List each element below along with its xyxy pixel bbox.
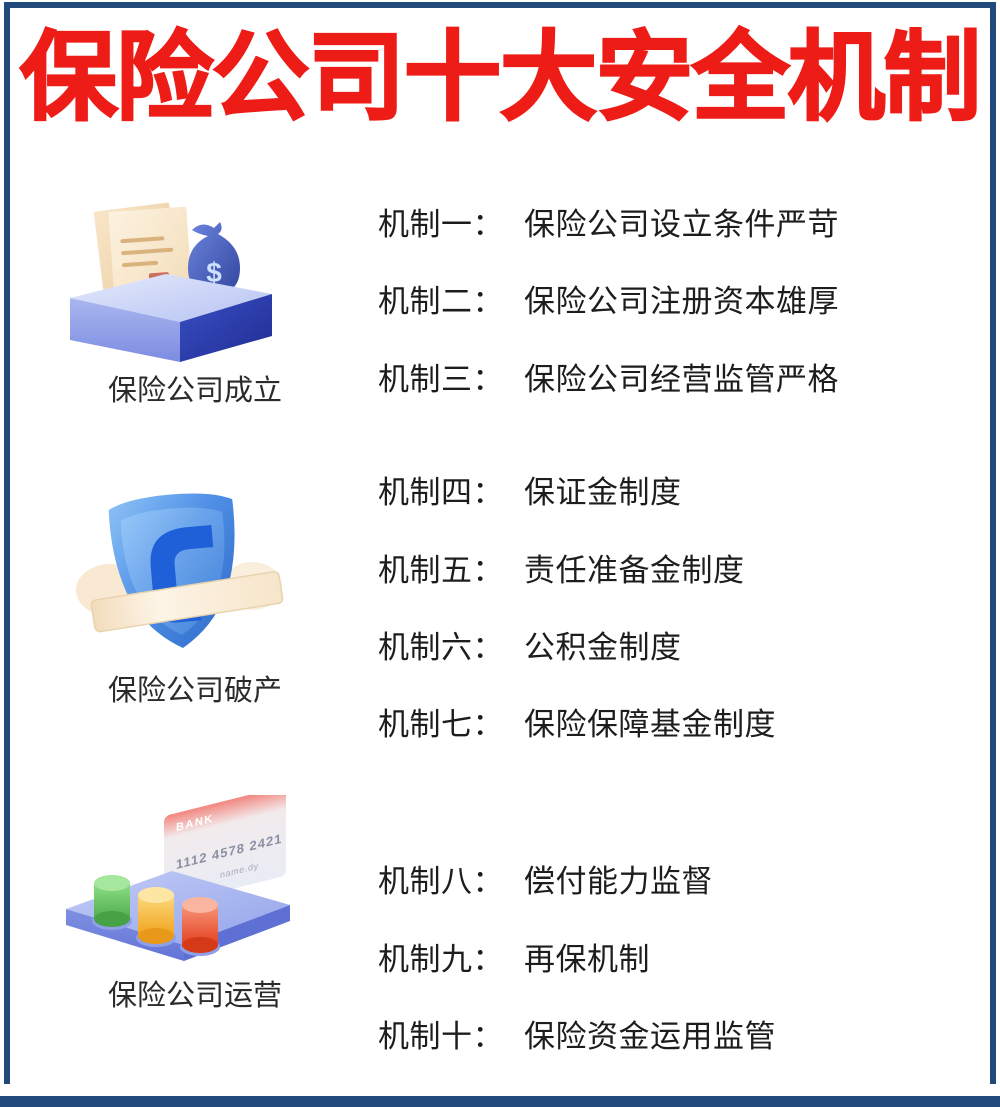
mechanism-label: 机制四： <box>378 468 524 518</box>
section-caption: 保险公司破产 <box>40 671 350 711</box>
section-company-operations: BANK 1112 4578 2421 name.dy <box>40 795 350 1016</box>
mechanism-text: 保险资金运用监管 <box>524 1012 776 1062</box>
mechanism-label: 机制六： <box>378 623 524 673</box>
mechanism-row-6: 机制六： 公积金制度 <box>378 623 682 673</box>
mechanism-text: 责任准备金制度 <box>524 546 745 596</box>
mechanism-row-1: 机制一： 保险公司设立条件严苛 <box>378 200 839 250</box>
mechanism-text: 再保机制 <box>524 935 650 985</box>
mechanism-text: 偿付能力监督 <box>524 857 713 907</box>
mechanism-text: 公积金制度 <box>524 623 682 673</box>
mechanism-label: 机制九： <box>378 935 524 985</box>
mechanism-row-7: 机制七： 保险保障基金制度 <box>378 700 776 750</box>
mechanism-label: 机制三： <box>378 355 524 405</box>
page-title: 保险公司十大安全机制 <box>0 22 1000 134</box>
mechanism-text: 保险公司经营监管严格 <box>524 355 839 405</box>
mechanism-label: 机制一： <box>378 200 524 250</box>
mechanism-text: 保险公司设立条件严苛 <box>524 200 839 250</box>
box-documents-moneybag-icon: $ <box>40 190 350 365</box>
mechanism-label: 机制十： <box>378 1012 524 1062</box>
frame-border-bottom <box>0 1096 1000 1107</box>
mechanism-row-10: 机制十： 保险资金运用监管 <box>378 1012 776 1062</box>
infographic-poster: 保险公司十大安全机制 <box>0 0 1000 1107</box>
frame-border-right <box>990 2 996 1084</box>
shield-bandage-icon <box>40 490 350 665</box>
mechanism-text: 保险公司注册资本雄厚 <box>524 277 839 327</box>
mechanism-label: 机制五： <box>378 546 524 596</box>
mechanism-label: 机制八： <box>378 857 524 907</box>
mechanism-text: 保险保障基金制度 <box>524 700 776 750</box>
section-caption: 保险公司运营 <box>40 976 350 1016</box>
mechanism-text: 保证金制度 <box>524 468 682 518</box>
mechanism-label: 机制二： <box>378 277 524 327</box>
mechanism-row-8: 机制八： 偿付能力监督 <box>378 857 713 907</box>
bank-card-charts-icon: BANK 1112 4578 2421 name.dy <box>40 795 350 970</box>
mechanism-row-9: 机制九： 再保机制 <box>378 935 650 985</box>
mechanism-row-5: 机制五： 责任准备金制度 <box>378 546 745 596</box>
mechanism-row-4: 机制四： 保证金制度 <box>378 468 682 518</box>
frame-border-top <box>4 2 996 8</box>
section-caption: 保险公司成立 <box>40 371 350 411</box>
section-company-establishment: $ 保险公司成立 <box>40 190 350 411</box>
frame-border-left <box>4 2 10 1084</box>
section-company-bankruptcy: 保险公司破产 <box>40 490 350 711</box>
mechanism-row-2: 机制二： 保险公司注册资本雄厚 <box>378 277 839 327</box>
mechanism-label: 机制七： <box>378 700 524 750</box>
mechanism-row-3: 机制三： 保险公司经营监管严格 <box>378 355 839 405</box>
